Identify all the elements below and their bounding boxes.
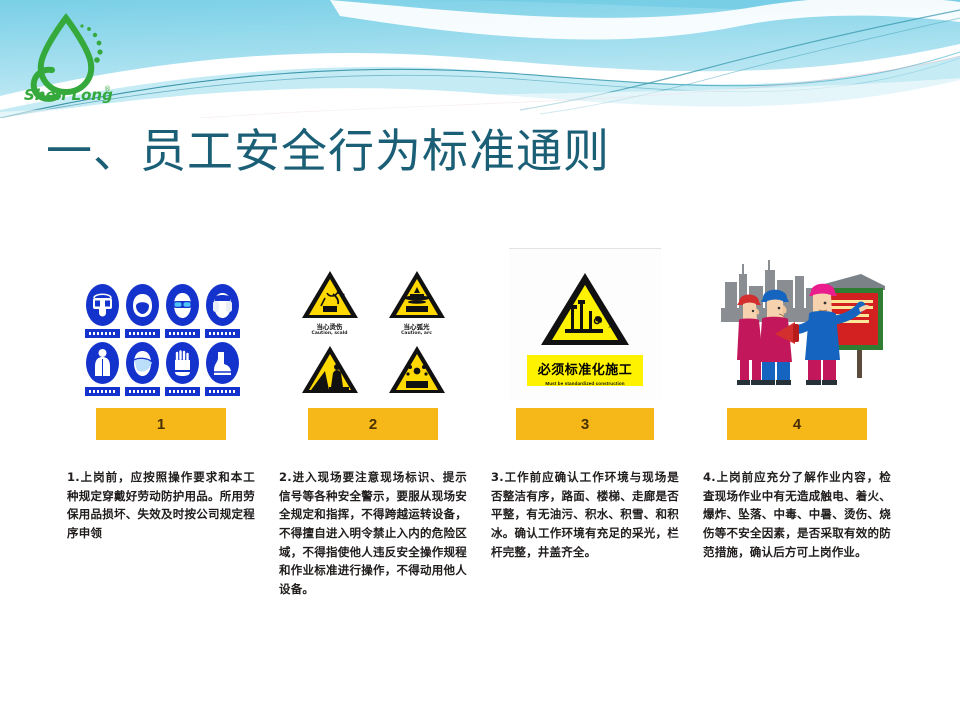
warning-standardize-icon: [537, 269, 633, 351]
presentation-slide: Shen Long ® 一、员工安全行为标准通则: [0, 0, 960, 720]
warning-radiation-icon: [386, 343, 448, 397]
standardize-sign-artwork: 必须标准化施工 Must be standardized constructio…: [479, 240, 691, 400]
warning-sign-grid: 当心烫伤 Caution, scald: [293, 268, 453, 400]
standardize-sign-board: 必须标准化施工 Must be standardized constructio…: [509, 248, 661, 400]
ppe-sign-gloves: [165, 342, 200, 396]
header-wave-graphic: [0, 0, 960, 118]
page-title: 一、员工安全行为标准通则: [46, 124, 610, 178]
ppe-sign-label-strip: [205, 329, 240, 338]
panel-number-banner: 1: [96, 408, 226, 440]
warning-sign-scald: 当心烫伤 Caution, scald: [293, 268, 366, 337]
panel-number-banner: 4: [727, 408, 867, 440]
logo-wordmark: Shen Long: [24, 86, 113, 104]
panel-ppe-signs: 1: [55, 240, 267, 440]
ppe-sign-gas-mask: [85, 284, 120, 338]
ppe-sign-label-strip: [85, 329, 120, 338]
ppe-sign-label-strip: [205, 387, 240, 396]
ppe-sign-dust-mask: [125, 342, 160, 396]
ppe-sign-label-strip: [85, 387, 120, 396]
ppe-sign-ear-protection: [205, 284, 240, 338]
warning-sign-falling: [293, 339, 366, 398]
warning-sign-label: 当心弧光 Caution, arc: [401, 323, 432, 337]
warning-arc-icon: [386, 268, 448, 322]
warning-sign-arc: 当心弧光 Caution, arc: [380, 268, 453, 337]
shen-long-logo: Shen Long ®: [22, 12, 122, 104]
panel-safety-briefing: 4: [691, 240, 903, 440]
warning-signs-artwork: 当心烫伤 Caution, scald: [267, 240, 479, 400]
content-area: 1: [55, 240, 905, 630]
ppe-sign-label-strip: [125, 387, 160, 396]
warning-label-en: Caution, arc: [401, 331, 432, 337]
warning-sign-radiation: [380, 339, 453, 398]
safety-goggles-icon: [166, 284, 199, 326]
protective-gloves-icon: [166, 342, 199, 384]
warning-scald-icon: [299, 268, 361, 322]
dust-mask-icon: [126, 342, 159, 384]
ear-protection-icon: [206, 284, 239, 326]
panel-caption-2: 2.进入现场要注意现场标识、提示信号等各种安全警示，要服从现场安全规定和指挥，不…: [267, 468, 479, 598]
header-banner: [0, 0, 960, 118]
cartoon-graphic: [709, 248, 885, 400]
panel-standardized-construction: 必须标准化施工 Must be standardized constructio…: [479, 240, 691, 440]
ppe-sign-label-strip: [165, 387, 200, 396]
warning-falling-icon: [299, 343, 361, 397]
safety-briefing-artwork: [691, 240, 903, 400]
ppe-sign-grid: [85, 284, 237, 400]
warning-label-en: Caution, scald: [312, 331, 348, 337]
ppe-sign-protective-clothing: [85, 342, 120, 396]
ppe-sign-goggles: [165, 284, 200, 338]
protective-clothing-icon: [86, 342, 119, 384]
standardize-sign-text-cn: 必须标准化施工: [527, 355, 643, 381]
panel-caption-4: 4.上岗前应充分了解作业内容，检查现场作业中有无造成触电、着火、爆炸、坠落、中毒…: [691, 468, 903, 598]
face-shield-icon: [126, 284, 159, 326]
workers-safety-briefing-illustration: [709, 248, 885, 400]
ppe-signs-artwork: [55, 240, 267, 400]
safety-shoes-icon: [206, 342, 239, 384]
panel-number-banner: 3: [516, 408, 654, 440]
ppe-sign-label-strip: [125, 329, 160, 338]
droplet-shape: [41, 18, 91, 92]
standardize-sign-text-en: Must be standardized construction: [527, 381, 643, 386]
warning-sign-label: 当心烫伤 Caution, scald: [312, 323, 348, 337]
panel-caption-1: 1.上岗前，应按照操作要求和本工种规定穿戴好劳动防护用品。所用劳保用品损坏、失效…: [55, 468, 267, 598]
ppe-sign-face-shield: [125, 284, 160, 338]
caption-text: 1.上岗前，应按照操作要求和本工种规定穿戴好劳动防护用品。所用劳保用品损坏、失效…: [67, 468, 255, 543]
ppe-sign-label-strip: [165, 329, 200, 338]
image-panel-row: 1: [55, 240, 905, 440]
panel-caption-3: 3.工作前应确认工作环境与现场是否整洁有序，路面、楼梯、走廊是否平整，有无油污、…: [479, 468, 691, 598]
panel-warning-triangles: 当心烫伤 Caution, scald: [267, 240, 479, 440]
registered-mark: ®: [104, 85, 111, 93]
logo-graphic: Shen Long ®: [22, 12, 122, 104]
panel-number-banner: 2: [308, 408, 438, 440]
gas-mask-icon: [86, 284, 119, 326]
ppe-sign-safety-shoes: [205, 342, 240, 396]
caption-row: 1.上岗前，应按照操作要求和本工种规定穿戴好劳动防护用品。所用劳保用品损坏、失效…: [55, 468, 905, 598]
